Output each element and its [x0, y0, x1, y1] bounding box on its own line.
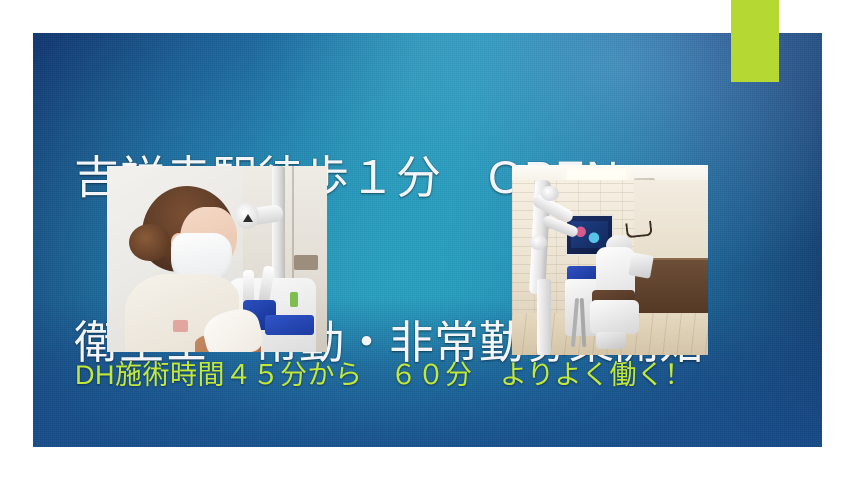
- photo-hygienist: [107, 166, 327, 352]
- green-bottle-icon: [290, 292, 299, 307]
- hygienist-hair-bun: [129, 224, 171, 261]
- uniform-badge: [173, 320, 188, 331]
- dental-handpiece-icon: [243, 270, 254, 303]
- tagline-text: DH施術時間４５分から ６０分 よりよく働く！: [75, 358, 692, 392]
- photo-treatment-room: [512, 165, 708, 355]
- blue-tray-lower: [265, 315, 313, 335]
- operating-arm-post: [537, 279, 551, 355]
- wall-hook-icon: [625, 221, 652, 239]
- side-tray-icon: [628, 253, 653, 279]
- wall-socket-icon: [294, 255, 318, 270]
- spittoon-icon: [596, 332, 625, 349]
- dental-unit-marker-icon: [243, 214, 253, 222]
- dental-chair-seat: [590, 300, 639, 334]
- slide-canvas: 吉祥寺駅徒歩１分 OPEN 衛生士 常勤・非常勤募集開始: [0, 0, 853, 480]
- operating-arm-joint-upper: [541, 186, 559, 201]
